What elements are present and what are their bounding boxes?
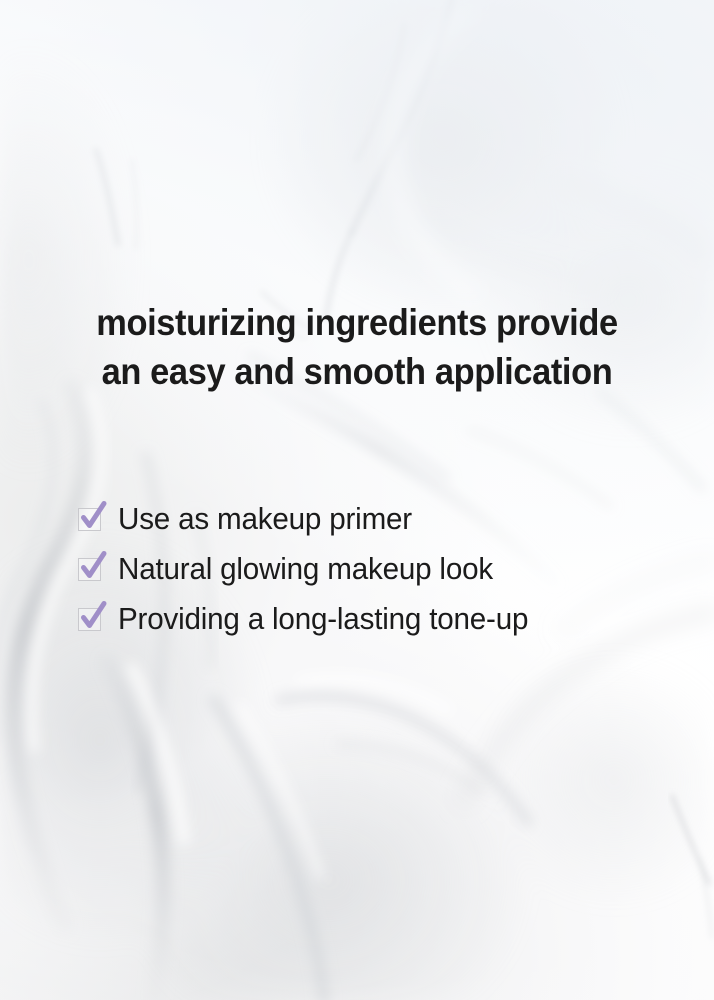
checklist-item-3: Providing a long-lasting tone-up (78, 600, 548, 638)
checkmark-glyph (79, 501, 107, 531)
checkmark-glyph (79, 551, 107, 581)
headline-line-2: an easy and smooth application (47, 347, 666, 396)
content-overlay: moisturizing ingredients provide an easy… (0, 0, 714, 1000)
feature-checklist: Use as makeup primer Natural glowing mak… (78, 500, 548, 638)
headline-line-1: moisturizing ingredients provide (47, 298, 666, 347)
checklist-item-2: Natural glowing makeup look (78, 550, 548, 588)
product-graphic-canvas: moisturizing ingredients provide an easy… (0, 0, 714, 1000)
checked-checkbox-icon (78, 508, 101, 531)
checkmark-glyph (79, 601, 107, 631)
checklist-item-label: Providing a long-lasting tone-up (118, 602, 528, 636)
headline: moisturizing ingredients provide an easy… (0, 298, 714, 396)
checked-checkbox-icon (78, 608, 101, 631)
checklist-item-1: Use as makeup primer (78, 500, 548, 538)
checked-checkbox-icon (78, 558, 101, 581)
checklist-item-label: Natural glowing makeup look (118, 552, 493, 586)
checklist-item-label: Use as makeup primer (118, 502, 412, 536)
